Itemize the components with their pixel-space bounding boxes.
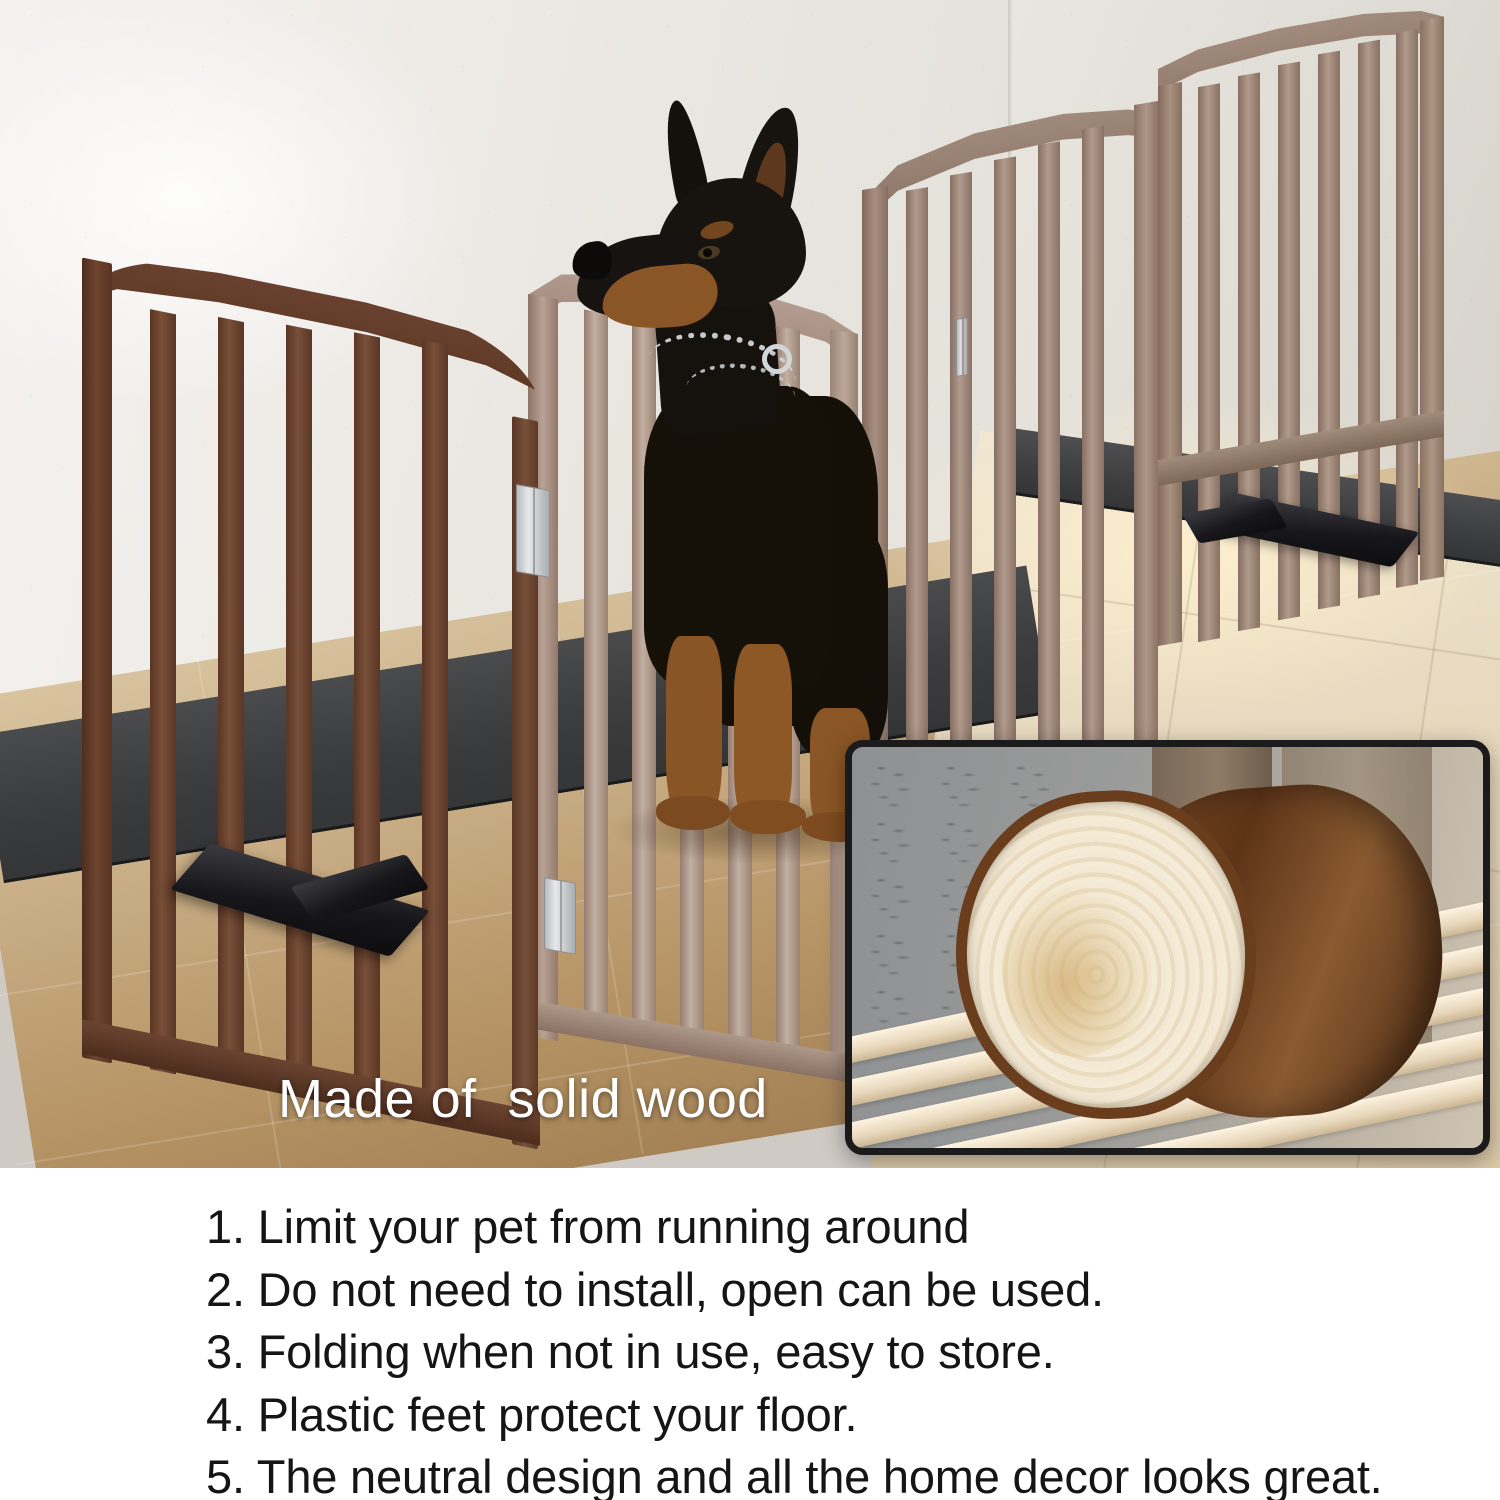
panel-frame-right	[512, 416, 538, 1149]
dog-paw-right	[730, 800, 806, 834]
gate-panel-left[interactable]	[60, 225, 560, 1156]
feature-item-4: 4. Plastic feet protect your floor.	[206, 1384, 1500, 1447]
hero-caption: Made of solid wood	[278, 1068, 768, 1130]
dog-paw-left	[656, 796, 730, 830]
hero-product-photo: Made of solid wood	[0, 0, 1500, 1168]
solid-wood-log-inset	[845, 740, 1490, 1155]
panel-frame-right	[1420, 17, 1444, 581]
feature-item-3: 3. Folding when not in use, easy to stor…	[206, 1321, 1500, 1384]
gate-panel-far-right[interactable]	[1158, 0, 1448, 602]
feature-item-5: 5. The neutral design and all the home d…	[206, 1446, 1500, 1500]
feature-item-1: 1. Limit your pet from running around	[206, 1196, 1500, 1259]
panel-frame-right	[1134, 101, 1158, 805]
gate-panel-right[interactable]	[862, 70, 1162, 820]
feature-list-section: 1. Limit your pet from running around 2.…	[0, 1168, 1500, 1500]
doberman-dog	[548, 96, 878, 836]
dog-chest	[644, 386, 832, 686]
panel-frame-left	[82, 257, 112, 1063]
product-image-page: Made of solid wood 1. Limit your pet fro…	[0, 0, 1500, 1500]
feature-list: 1. Limit your pet from running around 2.…	[0, 1168, 1500, 1500]
dog-collar-ring	[762, 344, 792, 374]
feature-item-2: 2. Do not need to install, open can be u…	[206, 1259, 1500, 1322]
